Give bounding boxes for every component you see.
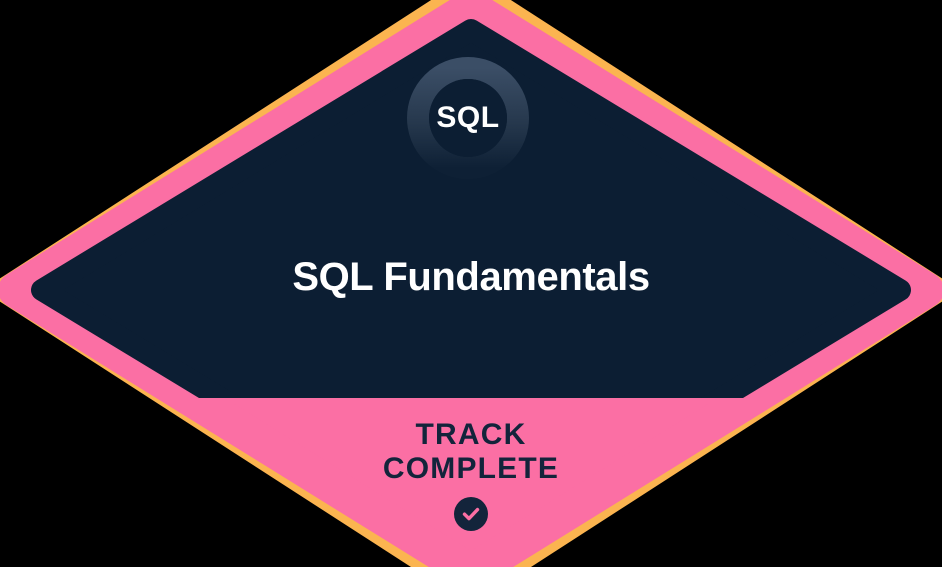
badge-shape-graphic — [0, 0, 942, 567]
track-completion-badge: SQL SQL Fundamentals TRACK COMPLETE — [0, 0, 942, 567]
